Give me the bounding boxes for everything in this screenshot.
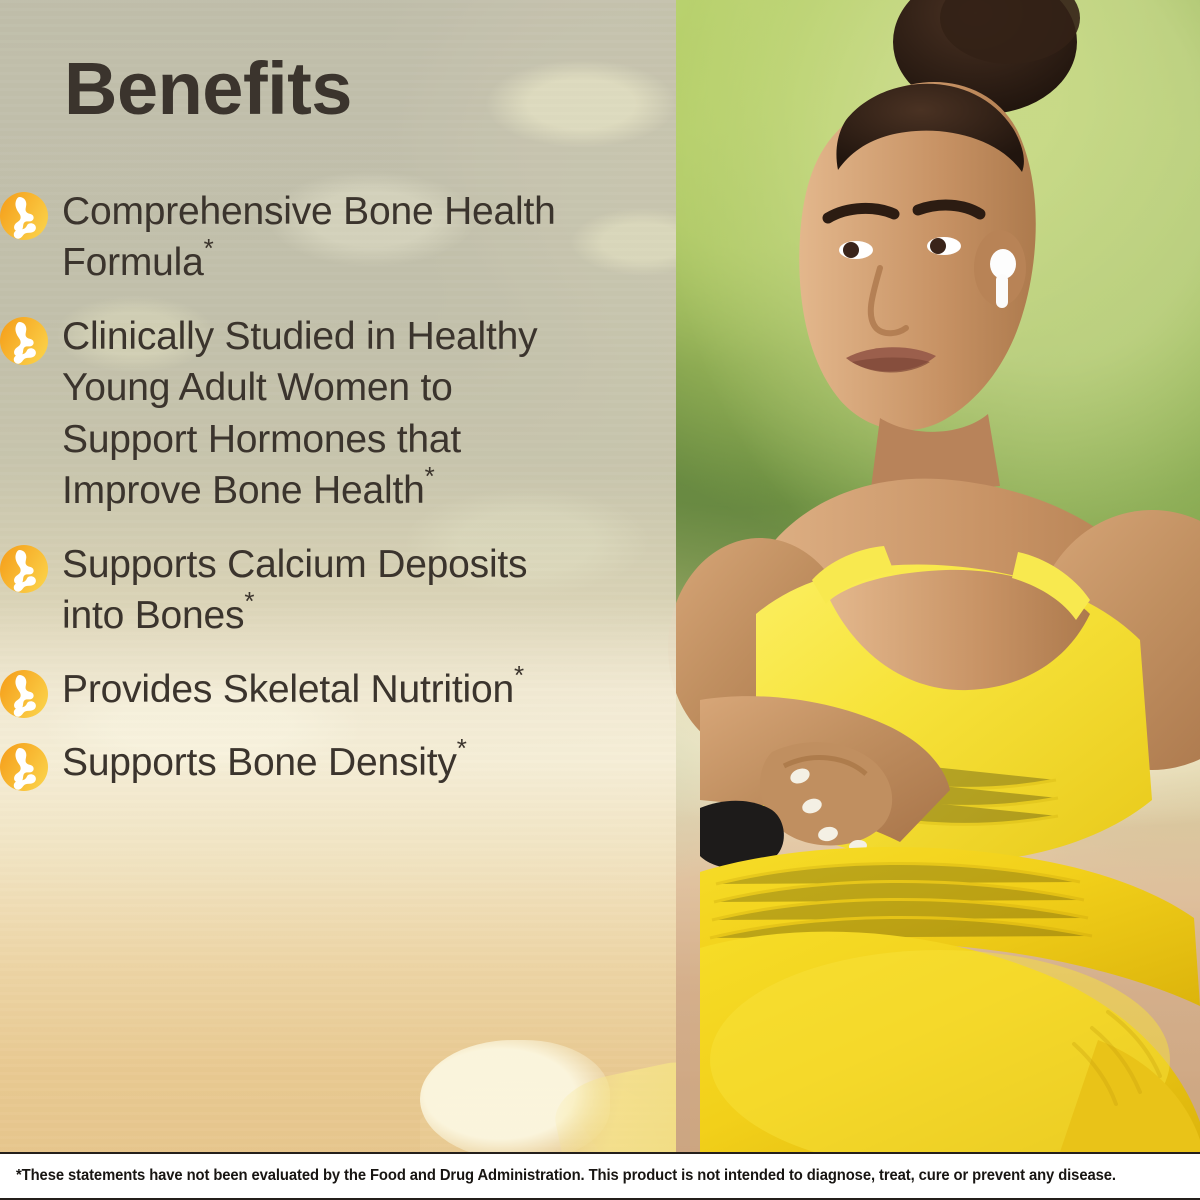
benefit-item-comprehensive-bone-health-formula: Comprehensive Bone Health Formula* xyxy=(0,186,676,289)
benefits-list: Comprehensive Bone Health Formula* Clini… xyxy=(0,186,676,811)
bone-joint-icon xyxy=(0,670,48,718)
benefit-item-supports-calcium-deposits: Supports Calcium Deposits into Bones* xyxy=(0,539,676,642)
bone-joint-icon xyxy=(0,545,48,593)
benefit-label: Supports Bone Density* xyxy=(62,737,467,788)
benefit-item-clinically-studied-hormones: Clinically Studied in Healthy Young Adul… xyxy=(0,311,676,517)
fda-disclaimer-bar: *These statements have not been evaluate… xyxy=(0,1152,1200,1200)
bone-joint-icon xyxy=(0,743,48,791)
benefit-label: Supports Calcium Deposits into Bones* xyxy=(62,539,582,642)
page-title: Benefits xyxy=(64,52,352,126)
benefit-label: Provides Skeletal Nutrition* xyxy=(62,664,524,715)
fda-disclaimer-text: *These statements have not been evaluate… xyxy=(16,1167,1116,1185)
benefits-content: Benefits xyxy=(0,0,676,1152)
bone-joint-icon xyxy=(0,317,48,365)
benefit-label: Comprehensive Bone Health Formula* xyxy=(62,186,582,289)
benefit-item-supports-bone-density: Supports Bone Density* xyxy=(0,737,676,788)
benefit-item-provides-skeletal-nutrition: Provides Skeletal Nutrition* xyxy=(0,664,676,715)
benefit-label: Clinically Studied in Healthy Young Adul… xyxy=(62,311,582,517)
bone-joint-icon xyxy=(0,192,48,240)
benefits-infographic: Benefits xyxy=(0,0,1200,1200)
